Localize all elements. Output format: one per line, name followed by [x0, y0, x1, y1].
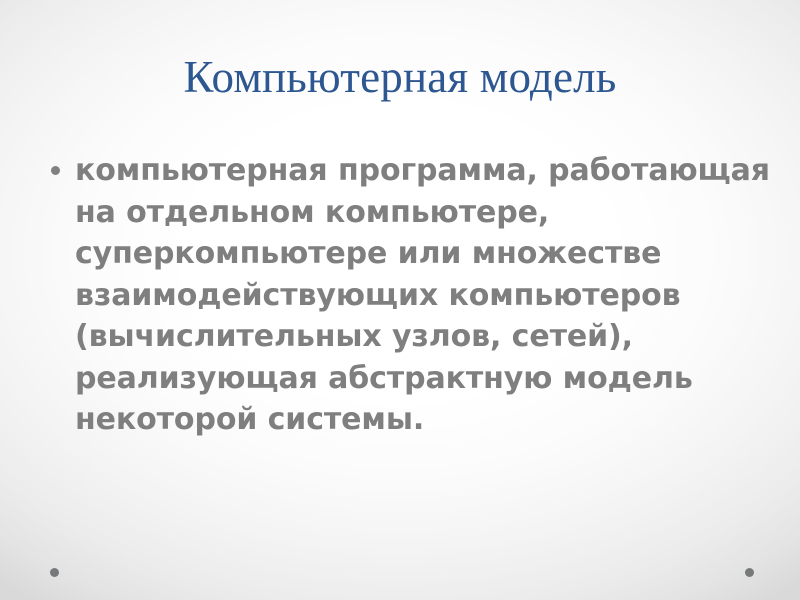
bullet-dot-icon — [51, 166, 60, 175]
corner-dot-right-icon — [745, 568, 754, 577]
list-item: компьютерная программа, работающая на от… — [36, 150, 772, 441]
list-item-text: компьютерная программа, работающая на от… — [75, 150, 772, 441]
corner-dot-left-icon — [50, 568, 59, 577]
slide-canvas: Компьютерная модель компьютерная програм… — [0, 0, 800, 600]
slide-body-block: компьютерная программа, работающая на от… — [36, 150, 772, 441]
slide-title-block: Компьютерная модель — [0, 22, 800, 133]
page-title: Компьютерная модель — [184, 52, 617, 102]
